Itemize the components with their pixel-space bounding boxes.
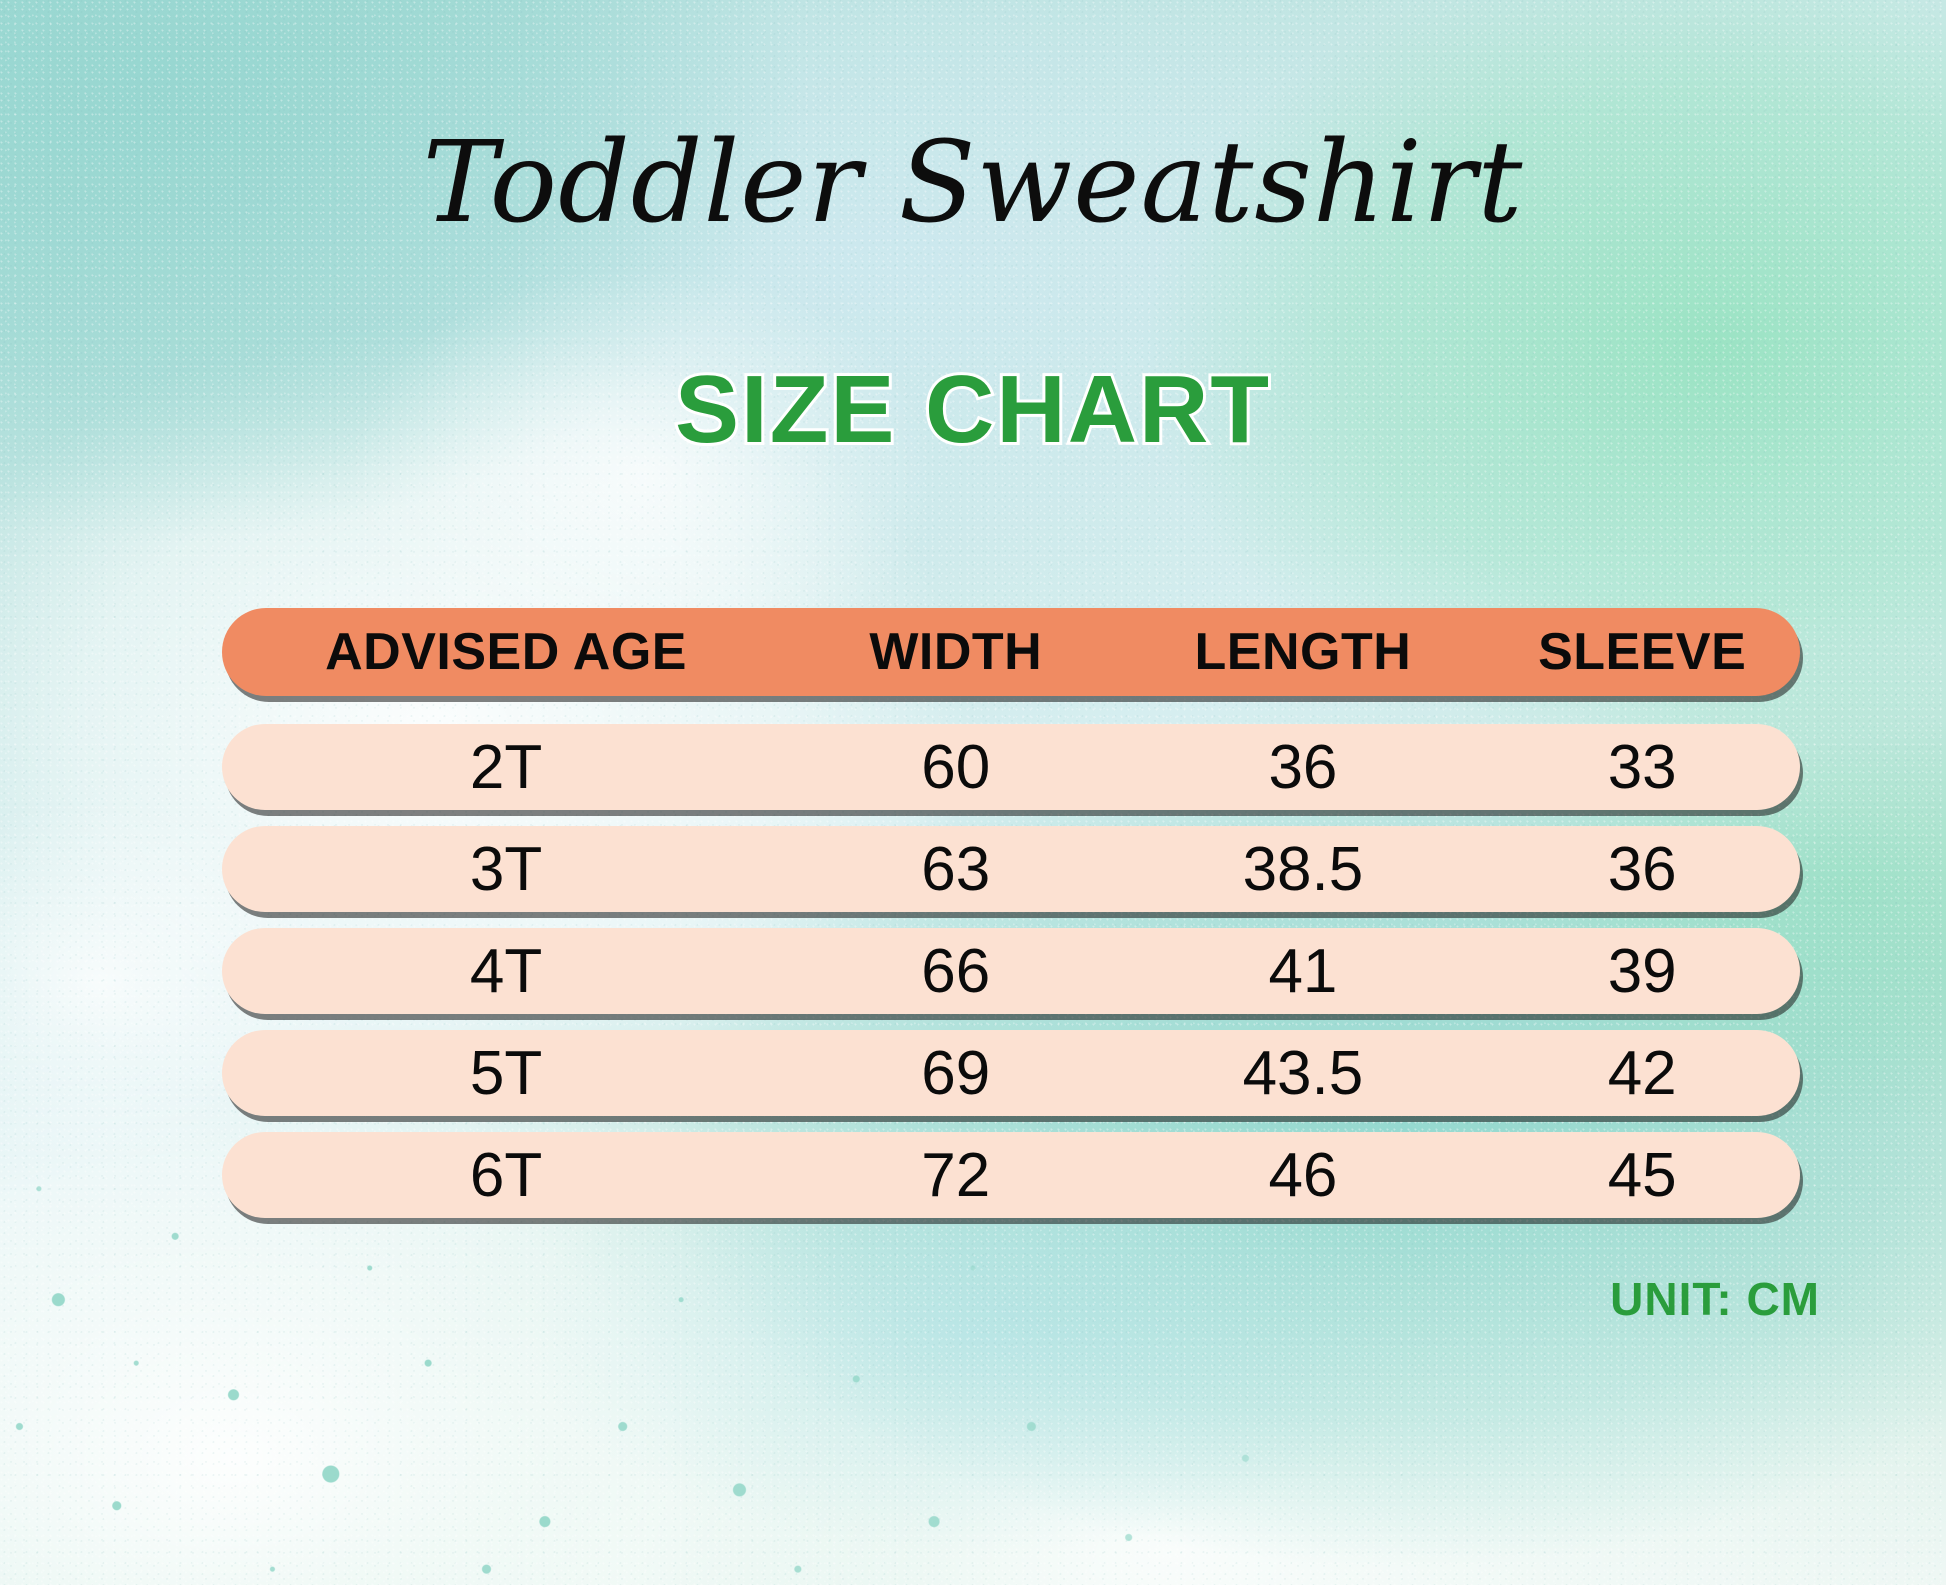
unit-note: UNIT: CM bbox=[1610, 1272, 1820, 1326]
cell-length: 43.5 bbox=[1121, 1038, 1484, 1109]
cell-width: 69 bbox=[790, 1038, 1121, 1109]
cell-length: 38.5 bbox=[1121, 834, 1484, 905]
column-header-length: LENGTH bbox=[1121, 622, 1484, 682]
cell-length: 41 bbox=[1121, 936, 1484, 1007]
cell-advised-age: 5T bbox=[222, 1038, 790, 1109]
page-subtitle: SIZE CHART bbox=[0, 355, 1946, 465]
table-header-row: ADVISED AGE WIDTH LENGTH SLEEVE bbox=[222, 608, 1800, 696]
cell-advised-age: 4T bbox=[222, 936, 790, 1007]
cell-advised-age: 3T bbox=[222, 834, 790, 905]
cell-sleeve: 39 bbox=[1484, 936, 1800, 1007]
column-header-sleeve: SLEEVE bbox=[1484, 622, 1800, 682]
size-chart-canvas: Toddler Sweatshirt SIZE CHART ADVISED AG… bbox=[0, 0, 1946, 1585]
column-header-width: WIDTH bbox=[790, 622, 1121, 682]
cell-sleeve: 36 bbox=[1484, 834, 1800, 905]
cell-length: 46 bbox=[1121, 1140, 1484, 1211]
cell-sleeve: 42 bbox=[1484, 1038, 1800, 1109]
table-row: 2T 60 36 33 bbox=[222, 724, 1800, 810]
cell-width: 72 bbox=[790, 1140, 1121, 1211]
cell-width: 66 bbox=[790, 936, 1121, 1007]
cell-width: 63 bbox=[790, 834, 1121, 905]
column-header-advised-age: ADVISED AGE bbox=[222, 622, 790, 682]
cell-sleeve: 45 bbox=[1484, 1140, 1800, 1211]
cell-width: 60 bbox=[790, 732, 1121, 803]
table-row: 4T 66 41 39 bbox=[222, 928, 1800, 1014]
cell-length: 36 bbox=[1121, 732, 1484, 803]
cell-advised-age: 6T bbox=[222, 1140, 790, 1211]
cell-advised-age: 2T bbox=[222, 732, 790, 803]
table-row: 5T 69 43.5 42 bbox=[222, 1030, 1800, 1116]
page-title: Toddler Sweatshirt bbox=[0, 118, 1946, 248]
cell-sleeve: 33 bbox=[1484, 732, 1800, 803]
table-row: 3T 63 38.5 36 bbox=[222, 826, 1800, 912]
table-row: 6T 72 46 45 bbox=[222, 1132, 1800, 1218]
size-chart-table: ADVISED AGE WIDTH LENGTH SLEEVE 2T 60 36… bbox=[222, 608, 1800, 1234]
